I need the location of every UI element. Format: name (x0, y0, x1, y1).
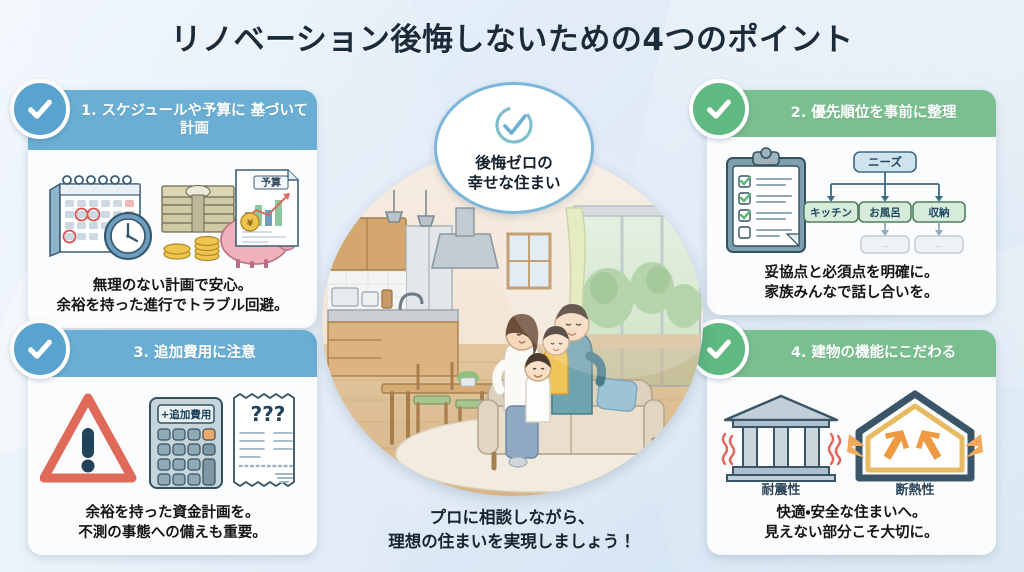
card-2-caption-line2: 家族みんなで話し合いを。 (717, 283, 986, 303)
card-2-title-line1: 2. 優先順位を事前に整理 (791, 105, 957, 121)
infographic-canvas: リノベーション後悔しないための4つのポイント 1. スケジュールや予算に 基づい… (0, 0, 1024, 572)
card-4-header: 4. 建物の機能にこだわる (707, 330, 996, 377)
priority-illustration: ニーズ キッチン お (719, 146, 984, 256)
check-circle-icon (10, 319, 70, 379)
flow-child-3-label: 収納 (929, 206, 950, 219)
card-4-title-line1: 4. 建物の機能にこだわる (791, 345, 956, 361)
card-4-title: 4. 建物の機能にこだわる (791, 344, 956, 362)
center-badge-line2: 幸せな住まい (467, 173, 560, 193)
check-circle-icon (689, 79, 749, 139)
receipt-icon: ??? (234, 394, 294, 486)
point-card-1: 1. スケジュールや予算に 基づいて計画 (28, 90, 317, 328)
card-3-title: 3. 追加費用に注意 (133, 344, 255, 362)
schedule-budget-illustration: 予算 ¥ (40, 160, 305, 268)
card-3-title-line1: 3. 追加費用に注意 (133, 345, 255, 361)
building-function-illustration: 耐震性 断熱性 (719, 386, 984, 496)
pillared-building-icon: 耐震性 (723, 396, 840, 496)
card-1-title-line1: 1. スケジュールや予算に (81, 103, 246, 119)
flow-root-label: ニーズ (868, 155, 902, 169)
calculator-icon: +追加費用 (150, 398, 222, 488)
calculator-display-label: +追加費用 (161, 408, 212, 421)
receipt-amount-label: ??? (251, 402, 286, 426)
point-card-2: 2. 優先順位を事前に整理 (707, 90, 996, 315)
footer-caption-line1: プロに相談しながら、 (0, 506, 1024, 530)
card-3-illustration: +追加費用 (38, 385, 307, 497)
center-badge-line1: 後悔ゼロの (467, 153, 560, 173)
card-1-illustration: 予算 ¥ (38, 158, 307, 270)
card-1-body: 予算 ¥ (28, 150, 317, 328)
card-1-caption-line1: 無理のない計画で安心。 (38, 276, 307, 296)
card-4-illustration: 耐震性 断熱性 (717, 385, 986, 497)
card-1-caption-line2: 余裕を持った進行でトラブル回避。 (38, 296, 307, 316)
flow-child-2-label: お風呂 (869, 207, 901, 219)
card-1-title: 1. スケジュールや予算に 基づいて計画 (80, 102, 309, 138)
card-2-title: 2. 優先順位を事前に整理 (791, 104, 957, 122)
feature-label-insulation: 断熱性 (895, 482, 934, 496)
check-circle-icon (492, 103, 536, 151)
yen-coin-symbol: ¥ (247, 219, 254, 229)
center-badge-text: 後悔ゼロの 幸せな住まい (467, 153, 560, 193)
flow-grandchild-1-label: ... (881, 240, 889, 249)
extra-cost-illustration: +追加費用 (40, 386, 305, 496)
check-circle-icon (10, 79, 70, 139)
budget-document-icon: 予算 (236, 170, 298, 246)
flow-grandchild-2-label: ... (935, 240, 943, 249)
card-2-body: ニーズ キッチン お (707, 137, 996, 315)
clock-icon (105, 213, 151, 259)
card-2-header: 2. 優先順位を事前に整理 (707, 90, 996, 137)
card-2-caption-line1: 妥協点と必須点を明確に。 (717, 263, 986, 283)
card-1-caption: 無理のない計画で安心。 余裕を持った進行でトラブル回避。 (38, 276, 307, 316)
card-2-illustration: ニーズ キッチン お (717, 145, 986, 257)
card-1-header: 1. スケジュールや予算に 基づいて計画 (28, 90, 317, 150)
coins-icon (164, 237, 219, 261)
footer-caption-line2: 理想の住まいを実現しましょう！ (0, 530, 1024, 554)
warning-triangle-icon (44, 398, 132, 478)
page-title: リノベーション後悔しないための4つのポイント (0, 14, 1024, 59)
flow-child-1-label: キッチン (810, 207, 852, 219)
budget-doc-label: 予算 (261, 176, 281, 189)
feature-label-seismic: 耐震性 (761, 482, 800, 496)
footer-caption: プロに相談しながら、 理想の住まいを実現しましょう！ (0, 506, 1024, 554)
insulated-house-icon: 断熱性 (847, 394, 983, 496)
clipboard-checklist-icon (727, 148, 805, 252)
center-badge: 後悔ゼロの 幸せな住まい (434, 82, 594, 214)
flowchart-icon: ニーズ キッチン お (804, 152, 965, 253)
cash-stack-icon (162, 186, 234, 233)
card-2-caption: 妥協点と必須点を明確に。 家族みんなで話し合いを。 (717, 263, 986, 303)
card-3-header: 3. 追加費用に注意 (28, 330, 317, 377)
